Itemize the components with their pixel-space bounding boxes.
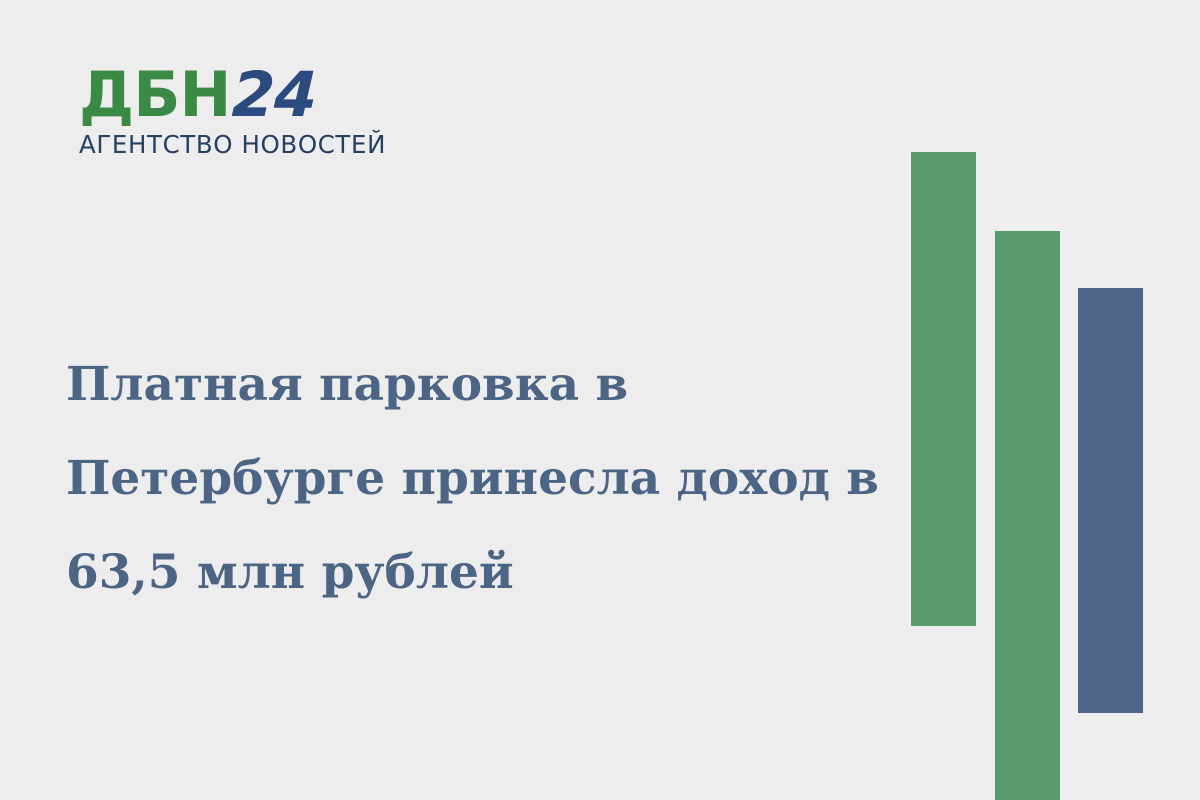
- headline-line-2: Петербурге принесла доход в: [66, 432, 866, 526]
- bar-blue-short: [1078, 288, 1143, 713]
- logo-wordmark-secondary: 24: [231, 64, 317, 126]
- headline-line-1: Платная парковка в: [66, 338, 866, 432]
- logo-tagline: АГЕНТСТВО НОВОСТЕЙ: [79, 132, 379, 158]
- logo-wordmark-primary: ДБН: [79, 64, 230, 126]
- headline: Платная парковка в Петербурге принесла д…: [66, 338, 866, 620]
- bar-green-tall: [911, 152, 976, 626]
- bar-green-medium: [995, 231, 1060, 800]
- logo-wordmark: ДБН24: [79, 64, 379, 126]
- abn24-logo[interactable]: ДБН24 АГЕНТСТВО НОВОСТЕЙ: [79, 64, 379, 158]
- news-card: ДБН24 АГЕНТСТВО НОВОСТЕЙ Платная парковк…: [0, 0, 1200, 800]
- headline-line-3: 63,5 млн рублей: [66, 526, 866, 620]
